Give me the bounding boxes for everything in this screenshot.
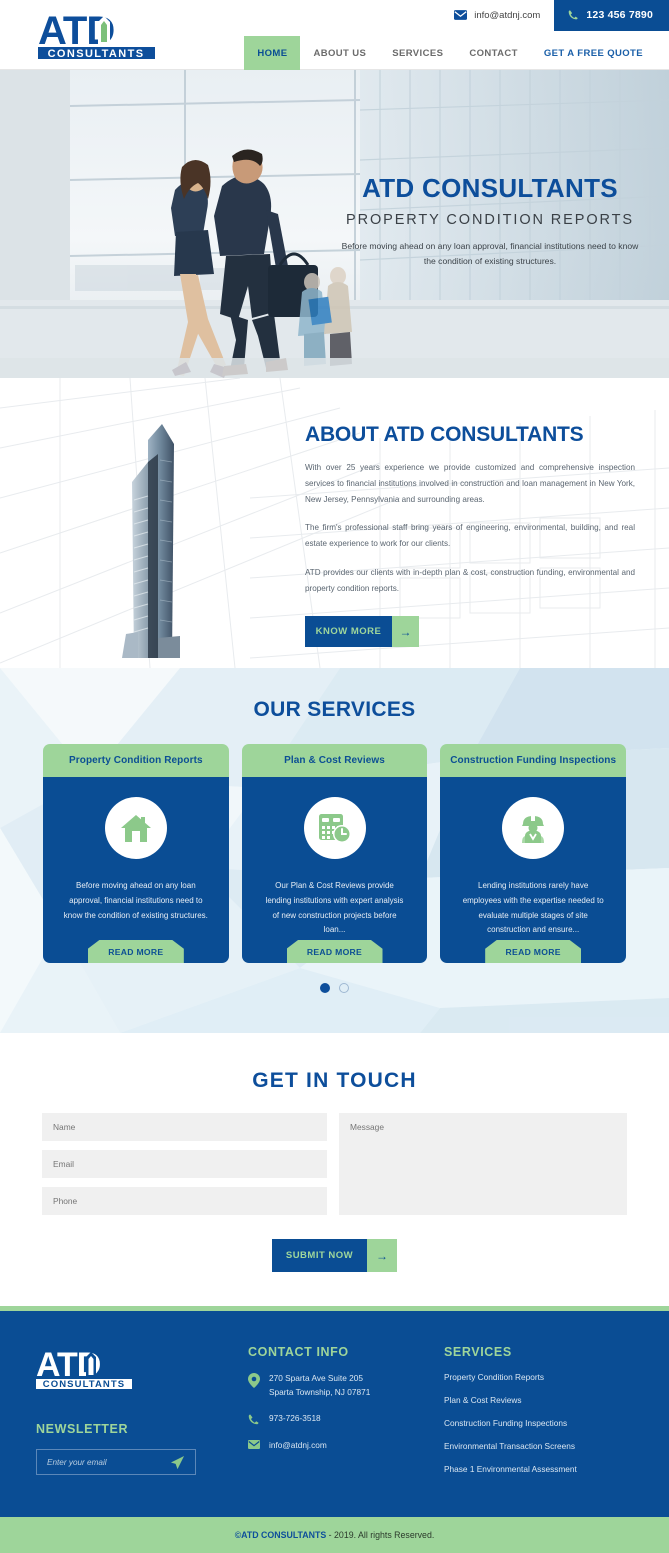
services-title: OUR SERVICES [0,668,669,722]
envelope-icon [454,10,467,20]
footer-address: 270 Sparta Ave Suite 205 Sparta Township… [269,1372,370,1399]
service-card-text: Before moving ahead on any loan approval… [43,879,229,923]
hero-banner: ATD CONSULTANTS PROPERTY CONDITION REPOR… [0,70,669,378]
service-read-more-button[interactable]: READ MORE [287,940,383,963]
copyright-bar: ©ATD CONSULTANTS - 2019. All rights Rese… [0,1517,669,1553]
hero-subtitle: PROPERTY CONDITION REPORTS [330,212,650,228]
service-icon-wrap [502,797,564,859]
footer-address-row: 270 Sparta Ave Suite 205 Sparta Township… [248,1372,444,1399]
header-email-text: info@atdnj.com [474,10,540,21]
map-pin-icon [248,1372,260,1388]
header-phone-text: 123 456 7890 [586,9,653,21]
newsletter-form[interactable] [36,1449,196,1475]
service-card-body: Our Plan & Cost Reviews provide lending … [242,777,428,963]
service-card-body: Before moving ahead on any loan approval… [43,777,229,963]
contact-form-left [42,1113,327,1215]
know-more-button[interactable]: KNOW MORE → [305,616,420,647]
phone-input[interactable] [42,1187,327,1215]
service-card-body: Lending institutions rarely have employe… [440,777,626,963]
home-icon [120,813,152,843]
service-card-text: Lending institutions rarely have employe… [440,879,626,938]
envelope-icon [248,1439,260,1449]
arrow-right-icon: → [367,1239,397,1272]
service-card-title: Construction Funding Inspections [440,744,626,777]
service-read-more-button[interactable]: READ MORE [485,940,581,963]
know-more-label: KNOW MORE [305,616,392,647]
copyright-text: ©ATD CONSULTANTS - 2019. All rights Rese… [235,1530,435,1540]
nav-item-about-us[interactable]: ABOUT US [300,36,379,70]
hero-description: Before moving ahead on any loan approval… [330,239,650,269]
submit-now-label: SUBMIT NOW [272,1239,367,1272]
hero-text-block: ATD CONSULTANTS PROPERTY CONDITION REPOR… [330,174,650,269]
contact-info-heading: CONTACT INFO [248,1345,444,1359]
service-read-more-button[interactable]: READ MORE [88,940,184,963]
footer-email-row[interactable]: info@atdnj.com [248,1439,444,1453]
arrow-right-icon: → [392,616,419,647]
header-topbar: info@atdnj.com 123 456 7890 [454,0,669,30]
about-skyscraper-image [82,400,222,662]
about-paragraph-1: With over 25 years experience we provide… [305,460,635,507]
service-card-text: Our Plan & Cost Reviews provide lending … [242,879,428,938]
site-logo[interactable]: ATD CONSULTANTS [36,8,176,60]
copyright-rest: - 2019. All rights Reserved. [326,1530,434,1540]
message-textarea[interactable] [339,1113,627,1215]
svg-text:CONSULTANTS: CONSULTANTS [48,48,145,60]
nav-item-home[interactable]: HOME [244,36,300,70]
footer-service-link[interactable]: Property Condition Reports [444,1372,633,1382]
services-section: OUR SERVICES Property Condition Reports … [0,668,669,1033]
worker-helmet-icon [517,812,549,844]
footer-address-line-2: Sparta Township, NJ 07871 [269,1386,370,1400]
footer-phone: 973-726-3518 [269,1412,321,1426]
contact-form [0,1093,669,1215]
contact-title: GET IN TOUCH [0,1069,669,1093]
footer-address-line-1: 270 Sparta Ave Suite 205 [269,1372,370,1386]
submit-row: SUBMIT NOW → [0,1239,669,1272]
footer-contact-column: CONTACT INFO 270 Sparta Ave Suite 205 Sp… [248,1345,444,1487]
service-card[interactable]: Plan & Cost Reviews [242,744,428,963]
footer-logo[interactable]: ATD CONSULTANTS [36,1345,151,1391]
email-input[interactable] [42,1150,327,1178]
footer-email: info@atdnj.com [269,1439,327,1453]
phone-icon [568,9,579,20]
footer-service-link[interactable]: Construction Funding Inspections [444,1418,633,1428]
main-navigation: HOME ABOUT US SERVICES CONTACT GET A FRE… [244,36,669,70]
carousel-dot-1[interactable] [320,983,330,993]
carousel-dots [0,983,669,993]
about-paragraph-3: ATD provides our clients with in-depth p… [305,565,635,597]
footer-services-column: SERVICES Property Condition Reports Plan… [444,1345,633,1487]
nav-item-services[interactable]: SERVICES [379,36,456,70]
name-input[interactable] [42,1113,327,1141]
footer-phone-row[interactable]: 973-726-3518 [248,1412,444,1426]
calendar-clock-icon [318,812,352,844]
about-section: ABOUT ATD CONSULTANTS With over 25 years… [0,378,669,668]
nav-item-get-a-free-quote[interactable]: GET A FREE QUOTE [531,36,669,70]
about-paragraph-2: The firm's professional staff bring year… [305,520,635,552]
nav-item-contact[interactable]: CONTACT [456,36,531,70]
header-email[interactable]: info@atdnj.com [454,10,554,21]
contact-section: GET IN TOUCH SUBMIT NOW → [0,1033,669,1306]
service-icon-wrap [105,797,167,859]
carousel-dot-2[interactable] [339,983,349,993]
about-content: ABOUT ATD CONSULTANTS With over 25 years… [305,423,635,647]
site-footer: ATD CONSULTANTS NEWSLETTER CONTACT INFO [0,1311,669,1517]
hero-title: ATD CONSULTANTS [330,174,650,203]
services-card-list: Property Condition Reports Before moving… [0,722,669,963]
send-paper-plane-icon[interactable] [170,1455,185,1470]
site-header: ATD CONSULTANTS info@atdnj.com 123 456 7… [0,0,669,70]
newsletter-email-input[interactable] [47,1458,157,1467]
submit-now-button[interactable]: SUBMIT NOW → [272,1239,397,1272]
phone-icon [248,1412,260,1425]
about-title: ABOUT ATD CONSULTANTS [305,423,635,447]
copyright-brand: ©ATD CONSULTANTS [235,1530,327,1540]
footer-service-link[interactable]: Phase 1 Environmental Assessment [444,1464,633,1474]
footer-service-link[interactable]: Plan & Cost Reviews [444,1395,633,1405]
svg-text:CONSULTANTS: CONSULTANTS [43,1379,125,1390]
footer-service-link[interactable]: Environmental Transaction Screens [444,1441,633,1451]
service-icon-wrap [304,797,366,859]
newsletter-heading: NEWSLETTER [36,1422,248,1436]
service-card[interactable]: Construction Funding Inspections Lending… [440,744,626,963]
service-card-title: Plan & Cost Reviews [242,744,428,777]
service-card-title: Property Condition Reports [43,744,229,777]
footer-brand-column: ATD CONSULTANTS NEWSLETTER [36,1345,248,1487]
services-heading: SERVICES [444,1345,633,1359]
service-card[interactable]: Property Condition Reports Before moving… [43,744,229,963]
header-phone-button[interactable]: 123 456 7890 [554,0,669,31]
